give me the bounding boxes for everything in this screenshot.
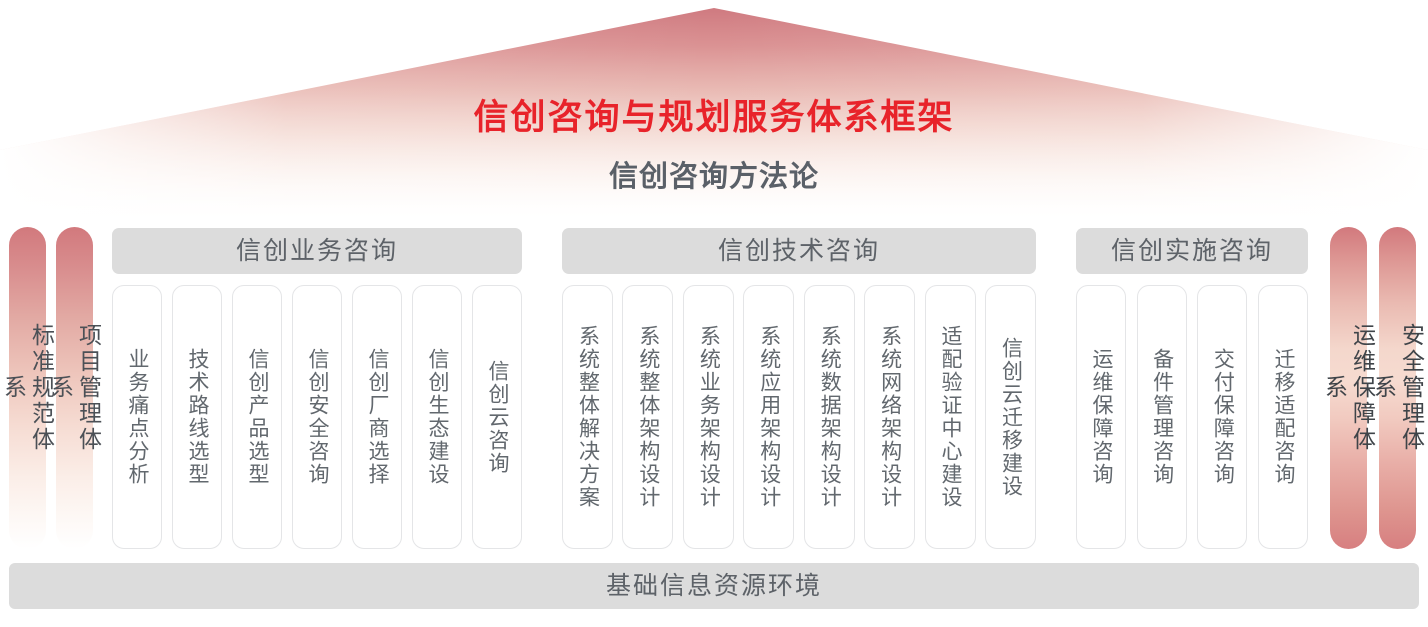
pillar-label: 安全管理体系 (1379, 313, 1416, 463)
page-subtitle: 信创咨询方法论 (0, 158, 1428, 196)
item-card[interactable]: 信创生态建设 (412, 285, 462, 549)
item-label: 适配验证中心建设 (937, 325, 963, 509)
item-card[interactable]: 信创云咨询 (472, 285, 522, 549)
item-label: 系统数据架构设计 (816, 325, 842, 509)
item-card[interactable]: 交付保障咨询 (1197, 285, 1247, 549)
item-card[interactable]: 系统业务架构设计 (683, 285, 734, 549)
item-label: 信创云迁移建设 (997, 337, 1023, 498)
item-label: 系统整体解决方案 (575, 325, 601, 509)
item-card[interactable]: 备件管理咨询 (1137, 285, 1187, 549)
item-label: 技术路线选型 (184, 348, 210, 486)
item-label: 业务痛点分析 (124, 348, 150, 486)
pillar-label: 项目管理体系 (56, 313, 93, 463)
item-card[interactable]: 系统数据架构设计 (804, 285, 855, 549)
item-label: 信创生态建设 (424, 348, 450, 486)
section-item-list: 运维保障咨询 备件管理咨询 交付保障咨询 迁移适配咨询 (1076, 285, 1308, 549)
item-label: 系统整体架构设计 (635, 325, 661, 509)
section-header[interactable]: 信创业务咨询 (112, 228, 522, 274)
section-item-list: 系统整体解决方案 系统整体架构设计 系统业务架构设计 系统应用架构设计 系统数据… (562, 285, 1036, 549)
pillar-project-management-system[interactable]: 项目管理体系 (56, 227, 93, 549)
pillar-standard-spec-system[interactable]: 标准规范体系 (9, 227, 46, 549)
foundation-bar[interactable]: 基础信息资源环境 (9, 563, 1419, 609)
item-label: 系统应用架构设计 (756, 325, 782, 509)
diagram-canvas: 信创咨询与规划服务体系框架 信创咨询方法论 标准规范体系 项目管理体系 运维保障… (0, 0, 1428, 627)
section-technology-consulting: 信创技术咨询 系统整体解决方案 系统整体架构设计 系统业务架构设计 系统应用架构… (562, 228, 1036, 549)
section-item-list: 业务痛点分析 技术路线选型 信创产品选型 信创安全咨询 信创厂商选择 信创生态建… (112, 285, 522, 549)
section-header-label: 信创实施咨询 (1111, 236, 1273, 266)
section-header-label: 信创技术咨询 (718, 236, 880, 266)
item-label: 信创云咨询 (484, 360, 510, 475)
item-label: 信创厂商选择 (364, 348, 390, 486)
foundation-label: 基础信息资源环境 (606, 571, 822, 601)
item-card[interactable]: 信创云迁移建设 (985, 285, 1036, 549)
item-card[interactable]: 迁移适配咨询 (1258, 285, 1308, 549)
page-title: 信创咨询与规划服务体系框架 (0, 96, 1428, 140)
item-card[interactable]: 适配验证中心建设 (925, 285, 976, 549)
item-card[interactable]: 系统整体架构设计 (622, 285, 673, 549)
item-card[interactable]: 系统应用架构设计 (743, 285, 794, 549)
item-label: 运维保障咨询 (1088, 348, 1114, 486)
section-header-label: 信创业务咨询 (236, 236, 398, 266)
pillar-ops-support-system[interactable]: 运维保障体系 (1330, 227, 1367, 549)
item-label: 系统业务架构设计 (695, 325, 721, 509)
pillar-label: 运维保障体系 (1330, 313, 1367, 463)
item-card[interactable]: 信创厂商选择 (352, 285, 402, 549)
item-card[interactable]: 业务痛点分析 (112, 285, 162, 549)
item-card[interactable]: 信创安全咨询 (292, 285, 342, 549)
item-label: 信创产品选型 (244, 348, 270, 486)
item-label: 备件管理咨询 (1149, 348, 1175, 486)
item-card[interactable]: 技术路线选型 (172, 285, 222, 549)
item-label: 信创安全咨询 (304, 348, 330, 486)
section-implementation-consulting: 信创实施咨询 运维保障咨询 备件管理咨询 交付保障咨询 迁移适配咨询 (1076, 228, 1308, 549)
section-header[interactable]: 信创实施咨询 (1076, 228, 1308, 274)
item-label: 系统网络架构设计 (877, 325, 903, 509)
section-header[interactable]: 信创技术咨询 (562, 228, 1036, 274)
pillar-security-management-system[interactable]: 安全管理体系 (1379, 227, 1416, 549)
pillar-label: 标准规范体系 (9, 313, 46, 463)
item-card[interactable]: 运维保障咨询 (1076, 285, 1126, 549)
section-business-consulting: 信创业务咨询 业务痛点分析 技术路线选型 信创产品选型 信创安全咨询 信创厂商选… (112, 228, 522, 549)
item-card[interactable]: 系统网络架构设计 (864, 285, 915, 549)
item-label: 交付保障咨询 (1209, 348, 1235, 486)
title-block: 信创咨询与规划服务体系框架 信创咨询方法论 (0, 0, 1428, 196)
item-label: 迁移适配咨询 (1270, 348, 1296, 486)
item-card[interactable]: 系统整体解决方案 (562, 285, 613, 549)
item-card[interactable]: 信创产品选型 (232, 285, 282, 549)
